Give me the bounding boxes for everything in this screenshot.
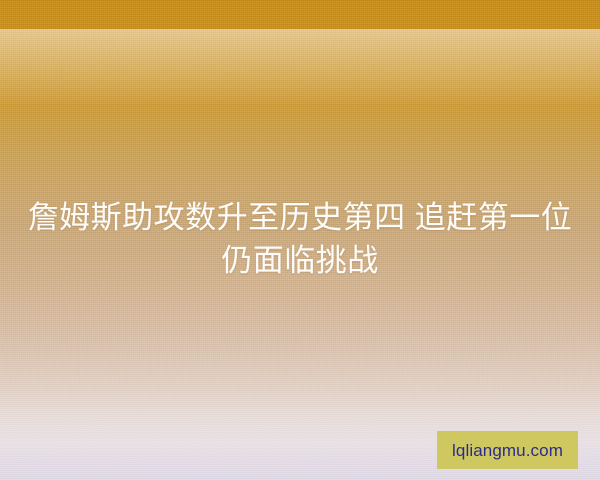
watermark-url-text: lqliangmu.com [452, 442, 563, 459]
watermark-badge: lqliangmu.com [437, 431, 578, 469]
news-thumbnail-card: 詹姆斯助攻数升至历史第四 追赶第一位 仍面临挑战 lqliangmu.com [0, 0, 600, 480]
headline-title: 詹姆斯助攻数升至历史第四 追赶第一位 仍面临挑战 [0, 196, 600, 282]
